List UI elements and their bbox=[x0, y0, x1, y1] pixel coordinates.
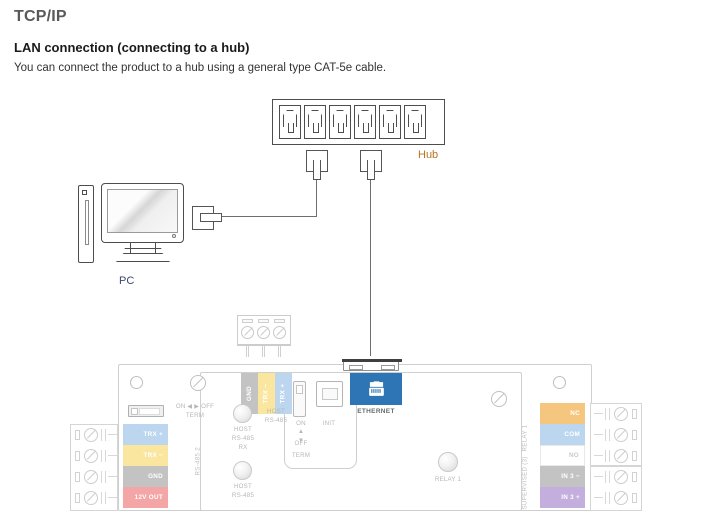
row-pin bbox=[605, 408, 610, 420]
dip-switch-knob bbox=[131, 408, 138, 415]
term-left-line1: ON ◀ ▶ OFF bbox=[160, 403, 230, 412]
row-pin bbox=[101, 492, 106, 504]
terminal-row[interactable] bbox=[71, 467, 119, 488]
terminal-screw-icon[interactable] bbox=[241, 326, 254, 339]
rj45-jack-icon bbox=[367, 381, 386, 397]
label-trx-minus: TRX − bbox=[123, 445, 168, 466]
power-led-icon bbox=[82, 190, 87, 195]
board-screw-icon[interactable] bbox=[491, 391, 507, 407]
terminal-row[interactable] bbox=[591, 467, 643, 488]
cable-pc-vertical bbox=[316, 180, 317, 217]
row-pin bbox=[101, 450, 106, 462]
row-pin bbox=[605, 450, 610, 462]
rj45-connector-neck bbox=[200, 213, 222, 222]
row-pin bbox=[101, 429, 106, 441]
pc-monitor bbox=[101, 183, 184, 243]
terminal-screw-icon[interactable] bbox=[257, 326, 270, 339]
term-left-line2: TERM bbox=[160, 412, 230, 421]
monitor-screen bbox=[107, 189, 178, 233]
label-no: NO bbox=[540, 445, 585, 466]
socket-pad-right bbox=[381, 365, 395, 370]
cable-hub-to-device bbox=[370, 180, 371, 356]
strip-gnd-label: GND bbox=[246, 386, 253, 401]
led-rx-line2: RS-485 bbox=[214, 435, 272, 444]
row-pin bbox=[101, 471, 106, 483]
label-com: COM bbox=[540, 424, 585, 445]
row-pin bbox=[605, 429, 610, 441]
init-label: INIT bbox=[315, 420, 343, 429]
rj45-jack-stem-icon bbox=[413, 123, 419, 133]
row-slot bbox=[75, 493, 80, 503]
ethernet-socket[interactable] bbox=[343, 361, 399, 371]
rj45-jack-stem-icon bbox=[388, 123, 394, 133]
hub-port-row bbox=[273, 100, 444, 144]
label-in3-minus: IN 3 − bbox=[540, 466, 585, 487]
slide-switch-knob bbox=[296, 385, 303, 394]
input-terminal-block bbox=[590, 466, 642, 511]
strip-trx-plus-label: TRX + bbox=[280, 383, 287, 403]
row-pin bbox=[605, 492, 610, 504]
terminal-screw-icon bbox=[614, 449, 628, 463]
terminal-slot bbox=[242, 319, 253, 323]
hub-port-3[interactable] bbox=[329, 105, 351, 139]
terminal-screw-icon bbox=[614, 428, 628, 442]
relay-group-label: RELAY 1 bbox=[505, 410, 545, 458]
ethernet-label: ETHERNET bbox=[350, 408, 402, 415]
label-in3-plus: IN 3 + bbox=[540, 487, 585, 508]
terminal-row[interactable] bbox=[591, 425, 643, 446]
hub-device bbox=[272, 99, 445, 145]
rj45-plug-to-pc bbox=[306, 150, 328, 180]
term-dip-switch-left[interactable] bbox=[128, 405, 164, 417]
label-nc: NC bbox=[540, 403, 585, 424]
terminal-row[interactable] bbox=[71, 446, 119, 467]
label-gnd: GND bbox=[123, 466, 168, 487]
pc-tower bbox=[78, 185, 94, 263]
drive-slot-icon bbox=[85, 200, 89, 245]
terminal-pin bbox=[246, 345, 249, 357]
rs485-group-text: RS-485 2 bbox=[195, 436, 202, 476]
row-slot bbox=[632, 472, 637, 482]
led-host-rs485-rx bbox=[233, 404, 252, 423]
rj45-jack-stem-icon bbox=[338, 123, 344, 133]
terminal-slot bbox=[274, 319, 285, 323]
init-button-face bbox=[322, 388, 338, 400]
cable-pc-horizontal bbox=[222, 216, 317, 217]
terminal-screw-icon bbox=[84, 470, 98, 484]
mounting-hole bbox=[130, 376, 143, 389]
terminal-screw-icon bbox=[84, 449, 98, 463]
terminal-screw-icon bbox=[614, 470, 628, 484]
row-pin bbox=[605, 471, 610, 483]
rj45-jack-stem-icon bbox=[363, 123, 369, 133]
terminal-row[interactable] bbox=[71, 488, 119, 509]
row-lead bbox=[108, 434, 117, 435]
rj45-plug-to-device bbox=[360, 150, 382, 180]
row-lead bbox=[594, 455, 603, 456]
monitor-stand-base bbox=[116, 253, 170, 262]
socket-pad-left bbox=[349, 365, 363, 370]
led-host-rs485-tx-label: HOST RS-485 bbox=[214, 483, 272, 501]
ethernet-port-block[interactable] bbox=[350, 373, 402, 405]
hub-port-1[interactable] bbox=[279, 105, 301, 139]
hub-port-6[interactable] bbox=[404, 105, 426, 139]
row-lead bbox=[594, 413, 603, 414]
dip-switch-track bbox=[139, 408, 160, 415]
led-relay-1-label: RELAY 1 bbox=[419, 476, 477, 485]
row-slot bbox=[632, 493, 637, 503]
supervised-group-text: SUPERVISED (3) bbox=[522, 470, 529, 510]
hub-port-2[interactable] bbox=[304, 105, 326, 139]
row-slot bbox=[632, 409, 637, 419]
label-12v-out: 12V OUT bbox=[123, 487, 168, 508]
row-lead bbox=[108, 497, 117, 498]
connection-diagram: Hub PC bbox=[0, 0, 713, 511]
relay-group-text: RELAY 1 bbox=[522, 412, 529, 452]
terminal-row[interactable] bbox=[591, 488, 643, 509]
led-rx-line1: HOST bbox=[214, 426, 272, 435]
row-slot bbox=[632, 430, 637, 440]
supervised-group-label: SUPERVISED (3) bbox=[505, 470, 545, 514]
led-host-rs485-rx-label: HOST RS-485 RX bbox=[214, 426, 272, 453]
monitor-stand-line bbox=[116, 248, 170, 249]
terminal-screw-icon bbox=[84, 491, 98, 505]
row-lead bbox=[108, 476, 117, 477]
terminal-row[interactable] bbox=[71, 425, 119, 446]
led-host-rs485-tx bbox=[233, 461, 252, 480]
terminal-screw-icon bbox=[614, 491, 628, 505]
terminal-screw-icon bbox=[614, 407, 628, 421]
led-tx-line2: RS-485 bbox=[214, 492, 272, 501]
hub-port-5[interactable] bbox=[379, 105, 401, 139]
terminal-row[interactable] bbox=[591, 446, 643, 467]
monitor-power-dot-icon bbox=[172, 234, 176, 238]
led-rx-line3: RX bbox=[214, 444, 272, 453]
terminal-screw-icon bbox=[84, 428, 98, 442]
strip-trx-minus-label: TRX − bbox=[263, 383, 270, 403]
row-lead bbox=[594, 497, 603, 498]
init-button[interactable] bbox=[316, 381, 343, 407]
terminal-slot bbox=[258, 319, 269, 323]
rs485-group-label: RS-485 2 bbox=[178, 432, 218, 480]
hub-label: Hub bbox=[418, 149, 438, 161]
rj45-jack-stem-icon bbox=[313, 123, 319, 133]
row-lead bbox=[594, 434, 603, 435]
term-off-label: OFF bbox=[290, 440, 312, 449]
row-slot bbox=[75, 472, 80, 482]
hub-port-4[interactable] bbox=[354, 105, 376, 139]
rj45-jack-stem-icon bbox=[288, 123, 294, 133]
terminal-pin bbox=[262, 345, 265, 357]
term-slide-switch[interactable] bbox=[293, 381, 306, 417]
board-screw-icon[interactable] bbox=[190, 375, 206, 391]
term-module-label: TERM bbox=[285, 452, 317, 461]
label-trx-plus: TRX + bbox=[123, 424, 168, 445]
row-lead bbox=[594, 476, 603, 477]
pc-rj45-connector bbox=[192, 206, 222, 230]
screw-terminal-3pin bbox=[237, 315, 291, 357]
row-lead bbox=[108, 455, 117, 456]
terminal-screw-icon[interactable] bbox=[273, 326, 286, 339]
pc-label: PC bbox=[119, 275, 134, 287]
row-slot bbox=[75, 451, 80, 461]
rj45-plug-tab bbox=[313, 160, 321, 180]
mounting-hole bbox=[553, 376, 566, 389]
led-relay-1 bbox=[438, 452, 458, 472]
relay-terminal-block bbox=[590, 403, 642, 466]
terminal-pin bbox=[278, 345, 281, 357]
row-slot bbox=[75, 430, 80, 440]
terminal-row[interactable] bbox=[591, 404, 643, 425]
socket-shield-cap bbox=[342, 359, 402, 362]
row-slot bbox=[632, 451, 637, 461]
term-switch-left-label: ON ◀ ▶ OFF TERM bbox=[160, 403, 230, 421]
led-tx-line1: HOST bbox=[214, 483, 272, 492]
left-terminal-block bbox=[70, 424, 118, 511]
rj45-plug-tab bbox=[367, 160, 375, 180]
